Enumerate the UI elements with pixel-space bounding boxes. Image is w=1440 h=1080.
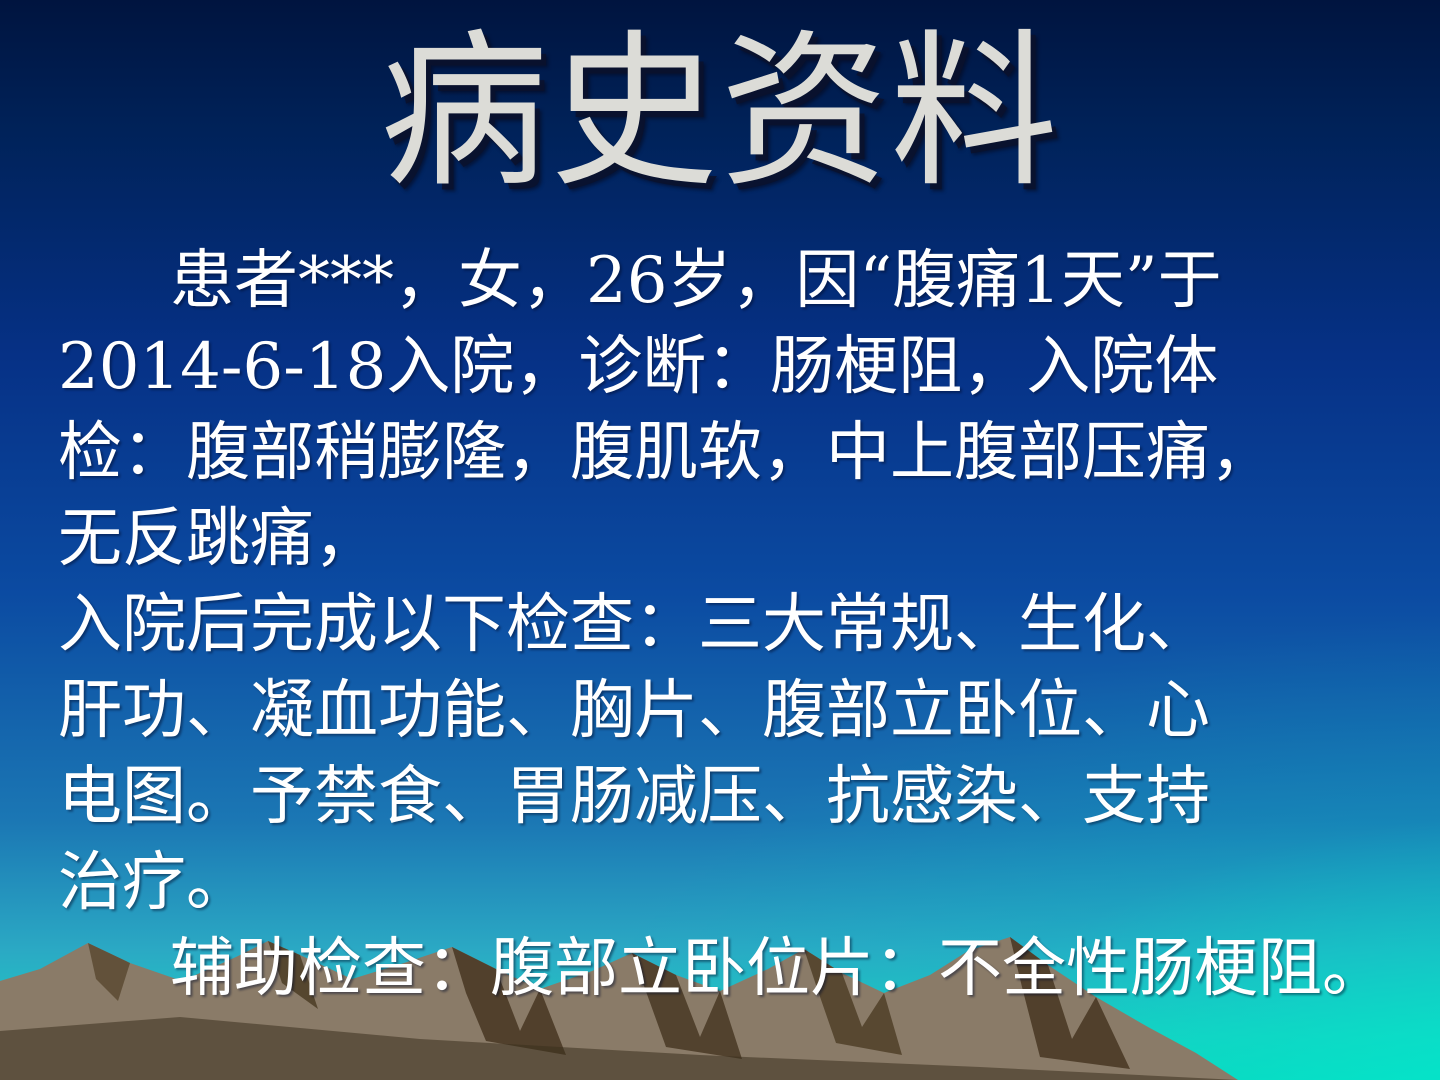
mountain-foreground-shadow [0, 1017, 1238, 1080]
body-line: 患者***，女，26岁，因“腹痛1天”于 [58, 238, 1398, 324]
body-line: 治疗。 [58, 840, 1398, 926]
presentation-slide: 病史资料 患者***，女，26岁，因“腹痛1天”于 2014-6-18入院，诊断… [0, 0, 1440, 1080]
body-line: 入院后完成以下检查：三大常规、生化、 [58, 582, 1398, 668]
slide-title: 病史资料 [0, 24, 1440, 200]
body-line: 电图。予禁食、胃肠减压、抗感染、支持 [58, 754, 1398, 840]
slide-body-text: 患者***，女，26岁，因“腹痛1天”于 2014-6-18入院，诊断：肠梗阻，… [58, 238, 1398, 1012]
body-line: 检：腹部稍膨隆，腹肌软，中上腹部压痛， [58, 410, 1398, 496]
body-line: 2014-6-18入院，诊断：肠梗阻，入院体 [58, 324, 1398, 410]
body-line: 辅助检查：腹部立卧位片：不全性肠梗阻。 [58, 926, 1398, 1012]
body-line: 肝功、凝血功能、胸片、腹部立卧位、心 [58, 668, 1398, 754]
body-line: 无反跳痛， [58, 496, 1398, 582]
